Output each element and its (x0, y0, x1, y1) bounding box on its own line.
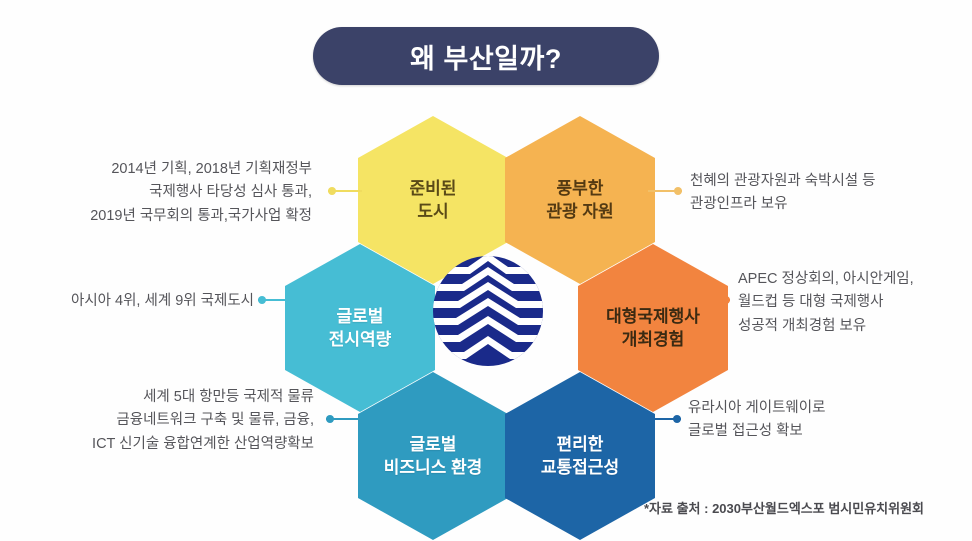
connector-dot-prepared-city (328, 187, 336, 195)
busan-city-emblem-icon (432, 255, 544, 367)
connector-global-business-environment (326, 418, 362, 420)
callout-rich-tourism-resources-detail: 천혜의 관광자원과 숙박시설 등 관광인프라 보유 (690, 170, 876, 217)
callout-line: 금융네트워크 구축 및 물류, 금융, (92, 409, 314, 432)
hex-convenient-transport-access-line2: 교통접근성 (541, 456, 619, 479)
hex-global-business-environment-line2: 비즈니스 환경 (384, 456, 483, 479)
hex-rich-tourism-resources-line2: 관광 자원 (546, 200, 613, 223)
hex-global-exhibition-capability-line1: 글로벌 (337, 305, 384, 328)
connector-global-exhibition-capability (258, 299, 288, 301)
callout-global-exhibition-capability-detail: 아시아 4위, 세계 9위 국제도시 (71, 290, 254, 313)
callout-line: 월드컵 등 대형 국제행사 (738, 291, 914, 314)
page-title-pill: 왜 부산일까? (313, 27, 659, 85)
infographic-canvas: 왜 부산일까? 준비된 도시 풍부한 관광 자원 글로벌 전시역량 대형국제행사… (0, 0, 972, 541)
callout-line: 성공적 개최경험 보유 (738, 315, 914, 338)
callout-line: 천혜의 관광자원과 숙박시설 등 (690, 170, 876, 193)
hex-major-international-events-line1: 대형국제행사 (606, 305, 700, 328)
callout-line: 관광인프라 보유 (690, 193, 876, 216)
callout-line: 2014년 기획, 2018년 기획재정부 (90, 158, 312, 181)
page-title: 왜 부산일까? (410, 37, 562, 76)
hex-major-international-events-line2: 개최경험 (622, 328, 685, 351)
connector-prepared-city (328, 190, 362, 192)
callout-line: APEC 정상회의, 아시안게임, (738, 268, 914, 291)
callout-line: ICT 신기술 융합연계한 산업역량확보 (92, 433, 314, 456)
connector-major-international-events (700, 299, 730, 301)
hex-global-exhibition-capability-line2: 전시역량 (329, 328, 392, 351)
connector-dot-global-exhibition-capability (258, 296, 266, 304)
source-note: *자료 출처 : 2030부산월드엑스포 범시민유치위원회 (644, 498, 924, 517)
callout-line: 세계 5대 항만등 국제적 물류 (92, 386, 314, 409)
hex-prepared-city-line2: 도시 (417, 200, 448, 223)
callout-line: 아시아 4위, 세계 9위 국제도시 (71, 290, 254, 313)
connector-dot-global-business-environment (326, 415, 334, 423)
connector-convenient-transport-access (645, 418, 681, 420)
hex-global-business-environment-line1: 글로벌 (410, 433, 457, 456)
hex-prepared-city-line1: 준비된 (410, 177, 457, 200)
callout-convenient-transport-access-detail: 유라시아 게이트웨이로 글로벌 접근성 확보 (688, 397, 825, 444)
connector-rich-tourism-resources (648, 190, 682, 192)
callout-line: 유라시아 게이트웨이로 (688, 397, 825, 420)
connector-dot-major-international-events (722, 296, 730, 304)
callout-global-business-environment-detail: 세계 5대 항만등 국제적 물류 금융네트워크 구축 및 물류, 금융, ICT… (92, 386, 314, 456)
callout-prepared-city-detail: 2014년 기획, 2018년 기획재정부 국제행사 타당성 심사 통과, 20… (90, 158, 312, 228)
callout-line: 국제행사 타당성 심사 통과, (90, 181, 312, 204)
callout-line: 2019년 국무회의 통과,국가사업 확정 (90, 205, 312, 228)
hex-rich-tourism-resources-line1: 풍부한 (557, 177, 604, 200)
hex-convenient-transport-access-line1: 편리한 (557, 433, 604, 456)
connector-dot-rich-tourism-resources (674, 187, 682, 195)
connector-dot-convenient-transport-access (673, 415, 681, 423)
callout-major-international-events-detail: APEC 정상회의, 아시안게임, 월드컵 등 대형 국제행사 성공적 개최경험… (738, 268, 914, 338)
callout-line: 글로벌 접근성 확보 (688, 420, 825, 443)
